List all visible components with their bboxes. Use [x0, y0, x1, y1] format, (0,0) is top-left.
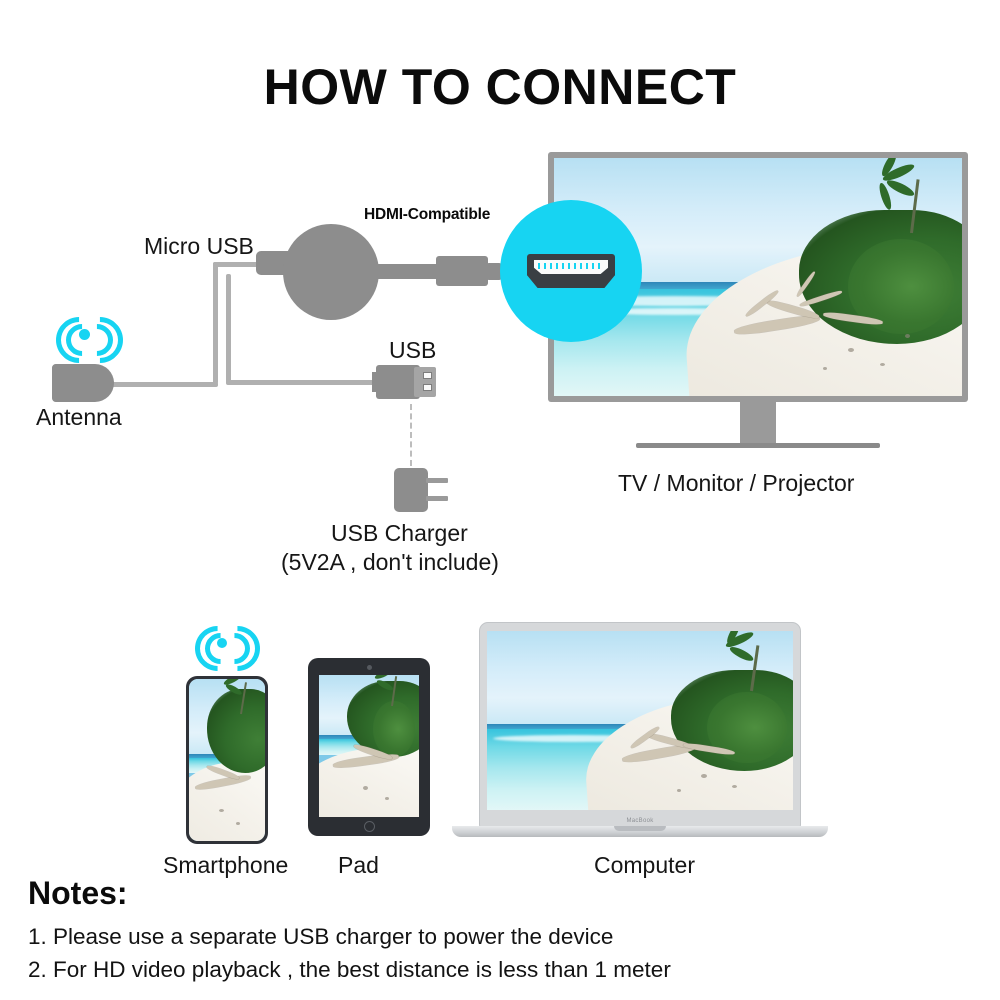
antenna-label: Antenna: [36, 404, 122, 430]
smartphone-label: Smartphone: [163, 852, 288, 878]
page-title: HOW TO CONNECT: [0, 62, 1000, 112]
laptop-base: [452, 826, 828, 837]
tablet-icon: [308, 658, 430, 836]
cable-usb-run: [226, 380, 376, 385]
hdmi-connector-tip: [487, 263, 501, 280]
hdmi-port-inner: [534, 260, 608, 274]
dongle-arm: [372, 264, 438, 279]
charger-spec-label: (5V2A , don't include): [281, 549, 499, 575]
wall-charger-icon: [394, 468, 428, 512]
charger-label: USB Charger: [331, 520, 468, 546]
laptop-notch: [614, 826, 666, 831]
computer-label: Computer: [594, 852, 695, 878]
charger-dashed-link: [410, 404, 412, 466]
hdmi-port-icon: [527, 254, 615, 288]
laptop-icon: MacBook: [479, 622, 801, 828]
display-label: TV / Monitor / Projector: [618, 470, 854, 496]
antenna-icon: [52, 364, 114, 402]
micro-usb-label: Micro USB: [144, 233, 254, 259]
laptop-brand-text: MacBook: [480, 818, 800, 824]
tablet-screen: [319, 675, 419, 817]
laptop-screen: [487, 631, 793, 810]
tablet-label: Pad: [338, 852, 379, 878]
dongle-body-icon: [283, 224, 379, 320]
wifi-broadcast-icon: [46, 312, 122, 356]
hdmi-magnifier-circle: [500, 200, 642, 342]
hdmi-connector-icon: [436, 256, 488, 286]
hdmi-compatible-label: HDMI-Compatible: [364, 206, 490, 224]
cable-antenna-run: [112, 382, 218, 387]
cable-usb-riser: [226, 274, 231, 384]
note-item-2: 2. For HD video playback , the best dist…: [28, 955, 671, 985]
infographic-canvas: HOW TO CONNECT: [0, 0, 1000, 1000]
tv-stand-neck: [740, 402, 776, 446]
note-item-1: 1. Please use a separate USB charger to …: [28, 922, 613, 952]
tv-stand-base: [636, 443, 880, 448]
wifi-broadcast-icon-phone: [186, 622, 258, 664]
usb-label: USB: [389, 337, 436, 363]
cable-microusb-top: [213, 262, 261, 267]
tablet-camera-icon: [367, 665, 372, 670]
cable-microusb-riser: [213, 262, 218, 384]
smartphone-screen: [189, 679, 265, 841]
notes-title: Notes:: [28, 875, 128, 912]
smartphone-icon: [186, 676, 268, 844]
usb-tip: [414, 367, 436, 397]
tablet-home-button[interactable]: [364, 821, 375, 832]
